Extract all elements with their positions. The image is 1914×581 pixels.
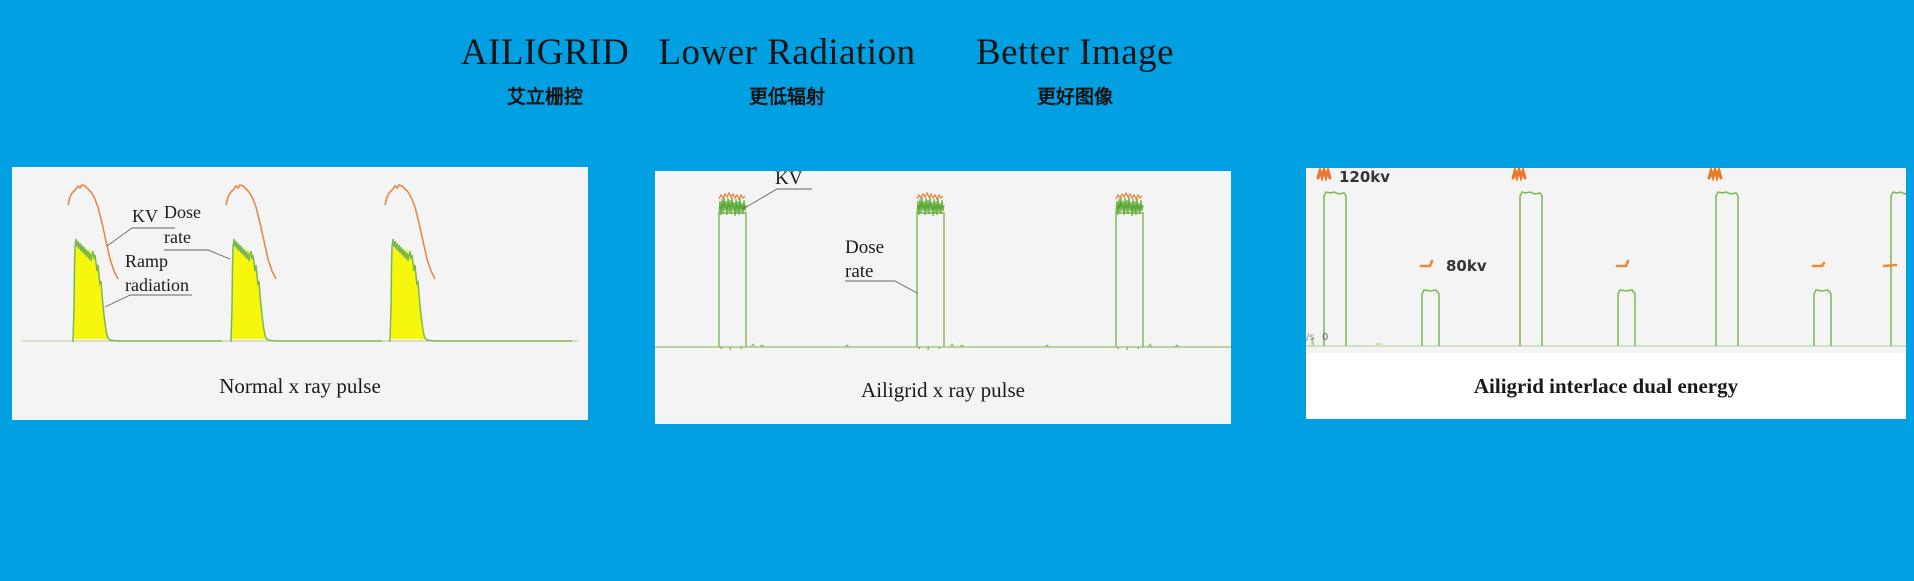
kv-leader-line	[743, 189, 812, 209]
dose-rate-pulse-3	[1116, 213, 1143, 347]
ramp-radiation-label-line2: radiation	[125, 275, 189, 295]
kv-80-label-text: 80kv	[1446, 257, 1487, 275]
pulse-120kv-2	[1520, 192, 1542, 346]
dose-rate-leader-line	[845, 281, 917, 293]
annotation-dose-rate: Dose rate	[164, 202, 230, 259]
dose-rate-label-line2: rate	[164, 227, 191, 247]
pulse-80kv-group	[1422, 290, 1831, 346]
kv-label-text: KV	[775, 171, 803, 189]
kv-marker-80-icon-2	[1617, 261, 1628, 266]
pulse-120kv-3	[1716, 192, 1738, 346]
annotation-kv: KV	[743, 171, 812, 209]
dual-energy-plot: 120kv 80kv /s 0	[1306, 168, 1906, 353]
pulse-120kv-1	[1324, 192, 1346, 346]
normal-pulse-plot: KV Dose rate Ramp radiation	[12, 167, 588, 352]
panel-caption-dual-energy: Ailigrid interlace dual energy	[1306, 374, 1906, 399]
chart-panel-ailigrid-pulse: KV Dose rate	[655, 171, 1231, 356]
header-group-better-image: Better Image 更好图像	[930, 30, 1220, 112]
panel-caption-normal-pulse: Normal x ray pulse	[12, 374, 588, 399]
pulse-120kv-group	[1324, 192, 1906, 346]
ailigrid-pulse-plot: KV Dose rate	[655, 171, 1231, 356]
header: AILIGRID 艾立栅控 Lower Radiation 更低辐射 Bette…	[0, 22, 1914, 132]
annotation-ramp-radiation: Ramp radiation	[105, 251, 192, 307]
pulse-group-2	[226, 185, 382, 341]
caption-wrapper-dual-energy: Ailigrid interlace dual energy	[1306, 353, 1906, 419]
pulse-80kv-1	[1422, 290, 1439, 346]
square-pulse-1	[719, 193, 746, 350]
pulse-group-3	[385, 185, 572, 341]
square-pulse-2	[917, 193, 944, 350]
header-chinese-better-image: 更好图像	[930, 82, 1220, 112]
square-pulse-3	[1116, 193, 1143, 350]
caption-wrapper-ailigrid-pulse: Ailigrid x ray pulse	[655, 356, 1231, 424]
dose-rate-leader-line	[164, 250, 230, 259]
kv-marker-120-icon-1	[1318, 170, 1330, 178]
kv-marker-80-group	[1421, 261, 1896, 266]
ramp-radiation-leader-line	[105, 295, 192, 307]
chart-panel-normal-pulse: KV Dose rate Ramp radiation	[12, 167, 588, 352]
header-group-lower-radiation: Lower Radiation 更低辐射	[637, 30, 937, 112]
pulse-80kv-3	[1814, 290, 1831, 346]
pulse-80kv-2	[1618, 290, 1635, 346]
dose-rate-label-line2: rate	[845, 261, 873, 282]
kv-marker-120-icon-2	[1513, 170, 1525, 178]
chart-panel-dual-energy: 120kv 80kv /s 0	[1306, 168, 1906, 353]
kv-marker-80-icon-3	[1813, 263, 1824, 266]
caption-wrapper-normal-pulse: Normal x ray pulse	[12, 352, 588, 420]
annotation-dose-rate: Dose rate	[845, 237, 917, 293]
panel-caption-ailigrid-pulse: Ailigrid x ray pulse	[655, 378, 1231, 403]
ramp-radiation-label-line1: Ramp	[125, 251, 168, 271]
axis-zero-label: 0	[1322, 332, 1328, 343]
header-chinese-lower-radiation: 更低辐射	[637, 82, 937, 112]
dose-rate-label-line1: Dose	[164, 202, 201, 222]
header-group-ailigrid: AILIGRID 艾立栅控	[430, 30, 660, 112]
kv-label-text: KV	[132, 206, 158, 226]
dose-rate-label-line1: Dose	[845, 237, 884, 258]
header-english-ailigrid: AILIGRID	[430, 30, 660, 76]
header-chinese-ailigrid: 艾立栅控	[430, 82, 660, 112]
kv-marker-80-icon-4	[1884, 265, 1896, 266]
kv-marker-80-icon-1	[1421, 261, 1432, 266]
dose-rate-pulse-1	[719, 213, 746, 347]
header-english-better-image: Better Image	[930, 30, 1220, 76]
dose-rate-pulse-2	[917, 213, 944, 347]
header-english-lower-radiation: Lower Radiation	[637, 30, 937, 76]
kv-120-label-text: 120kv	[1339, 168, 1390, 186]
axis-unit-label: /s	[1306, 332, 1315, 343]
kv-marker-120-icon-3	[1709, 170, 1721, 178]
pulse-120kv-4	[1891, 192, 1906, 346]
